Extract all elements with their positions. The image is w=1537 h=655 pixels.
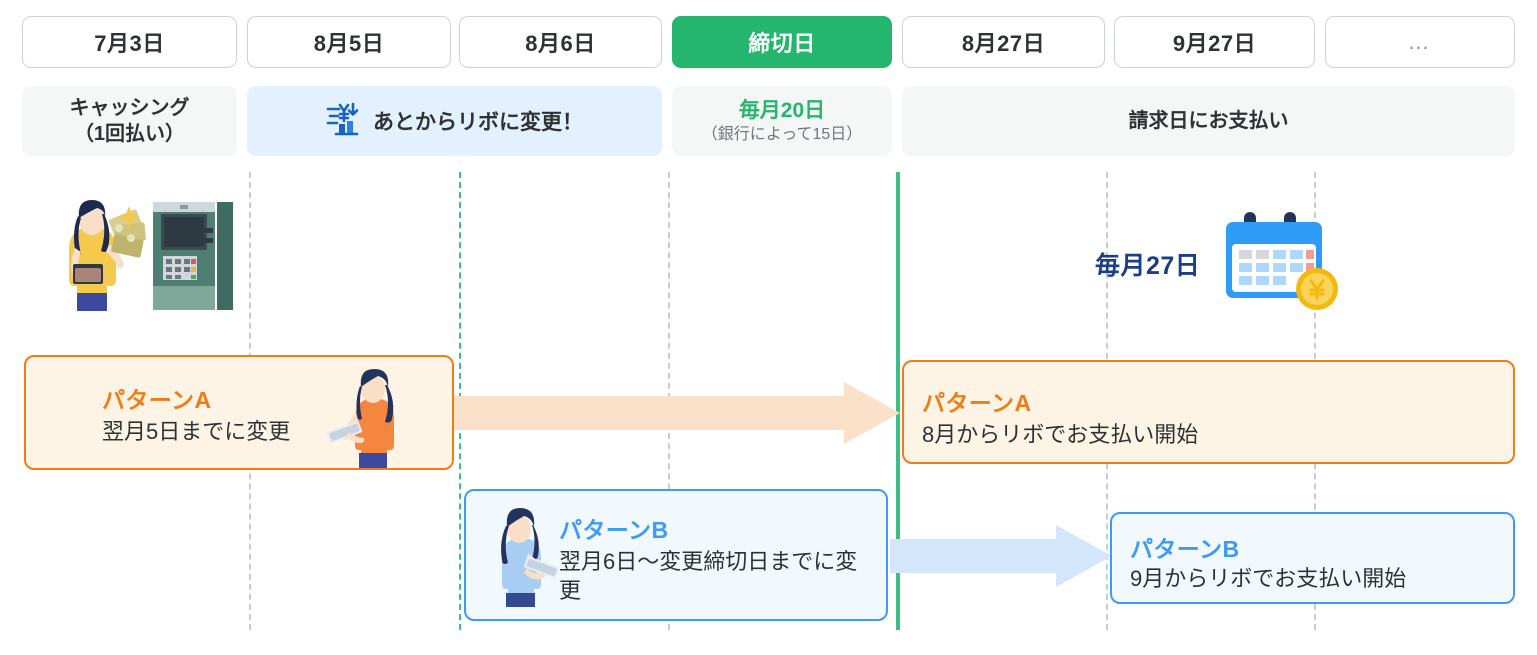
yen-chart-arrow-icon — [326, 101, 364, 142]
pattern-b-result-desc: 9月からリボでお支払い開始 — [1130, 564, 1406, 593]
tab-aug-5[interactable]: 8月5日 — [247, 16, 451, 68]
pattern-b-result-box[interactable]: パターンB 9月からリボでお支払い開始 — [1110, 512, 1515, 604]
pattern-a-arrow — [452, 382, 900, 444]
calendar-with-yen-coin-icon — [1218, 208, 1348, 313]
timeline-diagram: 7月3日 8月5日 8月6日 締切日 8月27日 9月27日 … キャッシング … — [0, 0, 1537, 655]
band-cashing-line1: キャッシング — [70, 95, 190, 121]
band-cashing: キャッシング （1回払い） — [22, 86, 237, 156]
pattern-b-change-title: パターンB — [559, 511, 668, 545]
band-billing-label: 請求日にお支払い — [1129, 108, 1289, 134]
band-monthly-20th-date: 毎月20日 — [739, 97, 825, 125]
monthly-27-label: 毎月27日 — [1095, 246, 1200, 282]
phase-bands: キャッシング （1回払い） — [0, 86, 1537, 156]
woman-with-smartphone-orange-icon — [326, 365, 408, 470]
pattern-a-change-box[interactable]: パターンA 翌月5日までに変更 — [24, 355, 454, 470]
tab-deadline[interactable]: 締切日 — [672, 16, 892, 68]
pattern-a-change-desc: 翌月5日までに変更 — [102, 417, 290, 446]
pattern-b-result-title: パターンB — [1130, 530, 1239, 564]
woman-with-smartphone-blue-icon — [484, 503, 558, 611]
band-monthly-20th-note: （銀行によって15日） — [702, 124, 863, 145]
tab-jul-3[interactable]: 7月3日 — [22, 16, 237, 68]
band-monthly-20th: 毎月20日 （銀行によって15日） — [672, 86, 892, 156]
pattern-a-result-box[interactable]: パターンA 8月からリボでお支払い開始 — [902, 360, 1515, 464]
band-pay-on-billing-date: 請求日にお支払い — [902, 86, 1515, 156]
tab-aug-27[interactable]: 8月27日 — [902, 16, 1105, 68]
pattern-b-change-box[interactable]: パターンB 翌月6日〜変更締切日までに変更 — [464, 489, 888, 621]
pattern-b-arrow — [890, 525, 1112, 587]
band-change-label: あとからリボに変更！ — [373, 106, 583, 136]
pattern-a-change-title: パターンA — [102, 381, 211, 415]
band-change-to-revolving: あとからリボに変更！ — [247, 86, 662, 156]
woman-at-atm-with-cash-icon — [45, 198, 235, 313]
pattern-b-change-desc: 翌月6日〜変更締切日までに変更 — [559, 547, 869, 606]
tab-aug-6[interactable]: 8月6日 — [459, 16, 662, 68]
timeline-tabs: 7月3日 8月5日 8月6日 締切日 8月27日 9月27日 … — [0, 16, 1537, 68]
tab-sep-27[interactable]: 9月27日 — [1114, 16, 1315, 68]
pattern-a-result-title: パターンA — [922, 384, 1031, 418]
band-cashing-line2: （1回払い） — [74, 121, 185, 147]
tab-more[interactable]: … — [1325, 16, 1515, 68]
pattern-a-result-desc: 8月からリボでお支払い開始 — [922, 420, 1198, 449]
